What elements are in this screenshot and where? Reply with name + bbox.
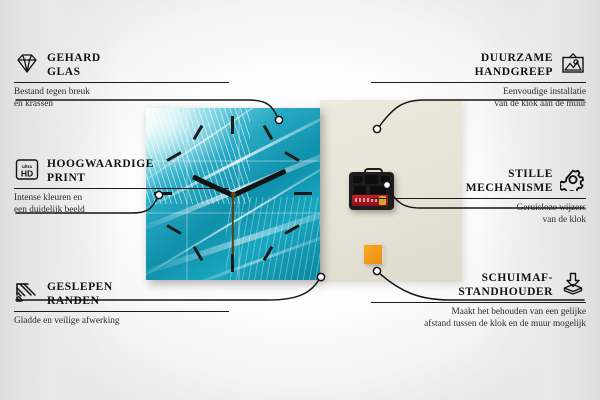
feature-title-line2: MECHANISME: [466, 182, 553, 196]
feature-title-line1: SCHUIMAF-: [458, 272, 553, 286]
feature-title-line2: STANDHOUDER: [458, 286, 553, 300]
feature-title-line1: DUURZAME: [475, 52, 553, 66]
feature-divider: [14, 311, 229, 312]
feature-divider: [371, 302, 586, 303]
feature-title-line2: GLAS: [47, 66, 101, 80]
feature-divider: [14, 188, 229, 189]
feature-desc-line2: een duidelijk beeld: [14, 205, 229, 217]
feature-desc-line1: Maakt het behouden van een gelijke: [371, 307, 586, 319]
feature-title-line1: GEHARD: [47, 52, 101, 66]
feature-divider: [371, 198, 586, 199]
feature-divider: [14, 82, 229, 83]
feature-duurzame-handgreep[interactable]: DUURZAME HANDGREEP Eenvoudige installati…: [371, 52, 586, 111]
feature-desc-line2: en krassen: [14, 99, 229, 111]
feature-title-line2: HANDGREEP: [475, 66, 553, 80]
feature-stille-mechanisme[interactable]: STILLE MECHANISME Geruisloze wijzers van…: [371, 168, 586, 227]
feature-title-line1: HOOGWAARDIGE: [47, 158, 154, 172]
beveled-edge-icon: [14, 281, 40, 304]
feature-desc-line1: Intense kleuren en: [14, 193, 229, 205]
feature-desc-line2: van de klok: [371, 215, 586, 227]
feature-divider: [371, 82, 586, 83]
infographic-canvas: GEHARD GLAS Bestand tegen breuk en krass…: [0, 0, 600, 400]
ultra-hd-badge-icon: ultra HD: [14, 158, 40, 181]
feature-title-line2: RANDEN: [47, 295, 113, 309]
badge-hd-text: HD: [21, 169, 33, 179]
feature-desc-line1: Geruisloze wijzers: [371, 203, 586, 215]
picture-frame-icon: [560, 52, 586, 75]
connector-dot-4: [373, 125, 380, 132]
feature-gehard-glas[interactable]: GEHARD GLAS Bestand tegen breuk en krass…: [14, 52, 229, 111]
feature-desc-line1: Eenvoudige installatie: [371, 87, 586, 99]
press-down-pad-icon: [560, 272, 586, 295]
feature-geslepen-randen[interactable]: GESLEPEN RANDEN Gladde en veilige afwerk…: [14, 281, 229, 328]
feature-desc-line1: Bestand tegen breuk: [14, 87, 229, 99]
feature-desc-line1: Gladde en veilige afwerking: [14, 316, 229, 328]
feature-schuimafstandhouder[interactable]: SCHUIMAF- STANDHOUDER Maakt het behouden…: [371, 272, 586, 331]
connector-dot-1: [275, 116, 282, 123]
connector-dot-3: [317, 273, 324, 280]
feature-title-line1: STILLE: [466, 168, 553, 182]
feature-desc-line2: afstand tussen de klok en de muur mogeli…: [371, 319, 586, 331]
feature-title-line2: PRINT: [47, 172, 154, 186]
feature-title-line1: GESLEPEN: [47, 281, 113, 295]
feature-hoogwaardige-print[interactable]: ultra HD HOOGWAARDIGE PRINT Intense kleu…: [14, 158, 229, 217]
feature-desc-line2: van de klok aan de muur: [371, 99, 586, 111]
gear-icon: [560, 168, 586, 191]
diamond-icon: [14, 52, 40, 75]
